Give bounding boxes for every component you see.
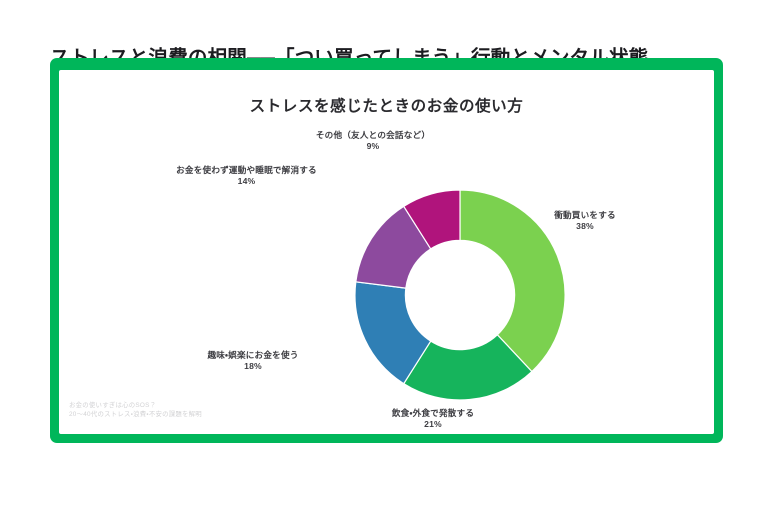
slice-label-other-text: その他（友人との会話など） [273, 130, 473, 141]
slice-label-food-text: 飲食・外食で発散する [333, 408, 533, 419]
footer-note-line-1: お金の使いすぎは心のSOS？ [69, 401, 202, 411]
slice-label-impulse-buy-value: 38% [505, 221, 665, 232]
slice-label-other: その他（友人との会話など） 9% [273, 130, 473, 153]
slice-label-food: 飲食・外食で発散する 21% [333, 408, 533, 431]
chart-title: ストレスを感じたときのお金の使い方 [59, 94, 714, 116]
slice-label-hobby-text: 趣味・娯楽にお金を使う [163, 350, 343, 361]
slice-label-other-value: 9% [273, 141, 473, 152]
infographic-card-inner: 調査期間：2025年9月1日〜25日 ストレスを感じたときのお金の使い方 その他… [59, 70, 714, 434]
infographic-card: 調査期間：2025年9月1日〜25日 ストレスを感じたときのお金の使い方 その他… [50, 58, 723, 443]
slice-label-hobby: 趣味・娯楽にお金を使う 18% [163, 350, 343, 373]
slice-label-impulse-buy-text: 衝動買いをする [505, 210, 665, 221]
slice-label-no-spend-text: お金を使わず運動や睡眠で解消する [139, 165, 354, 176]
slice-label-impulse-buy: 衝動買いをする 38% [505, 210, 665, 233]
footer-note: お金の使いすぎは心のSOS？ 20〜40代のストレス・浪費・不安の課題を解明 [69, 401, 202, 420]
slice-label-hobby-value: 18% [163, 361, 343, 372]
slice-label-food-value: 21% [333, 419, 533, 430]
footer-note-line-2: 20〜40代のストレス・浪費・不安の課題を解明 [69, 410, 202, 420]
slice-label-no-spend-value: 14% [139, 176, 354, 187]
slice-label-no-spend: お金を使わず運動や睡眠で解消する 14% [139, 165, 354, 188]
